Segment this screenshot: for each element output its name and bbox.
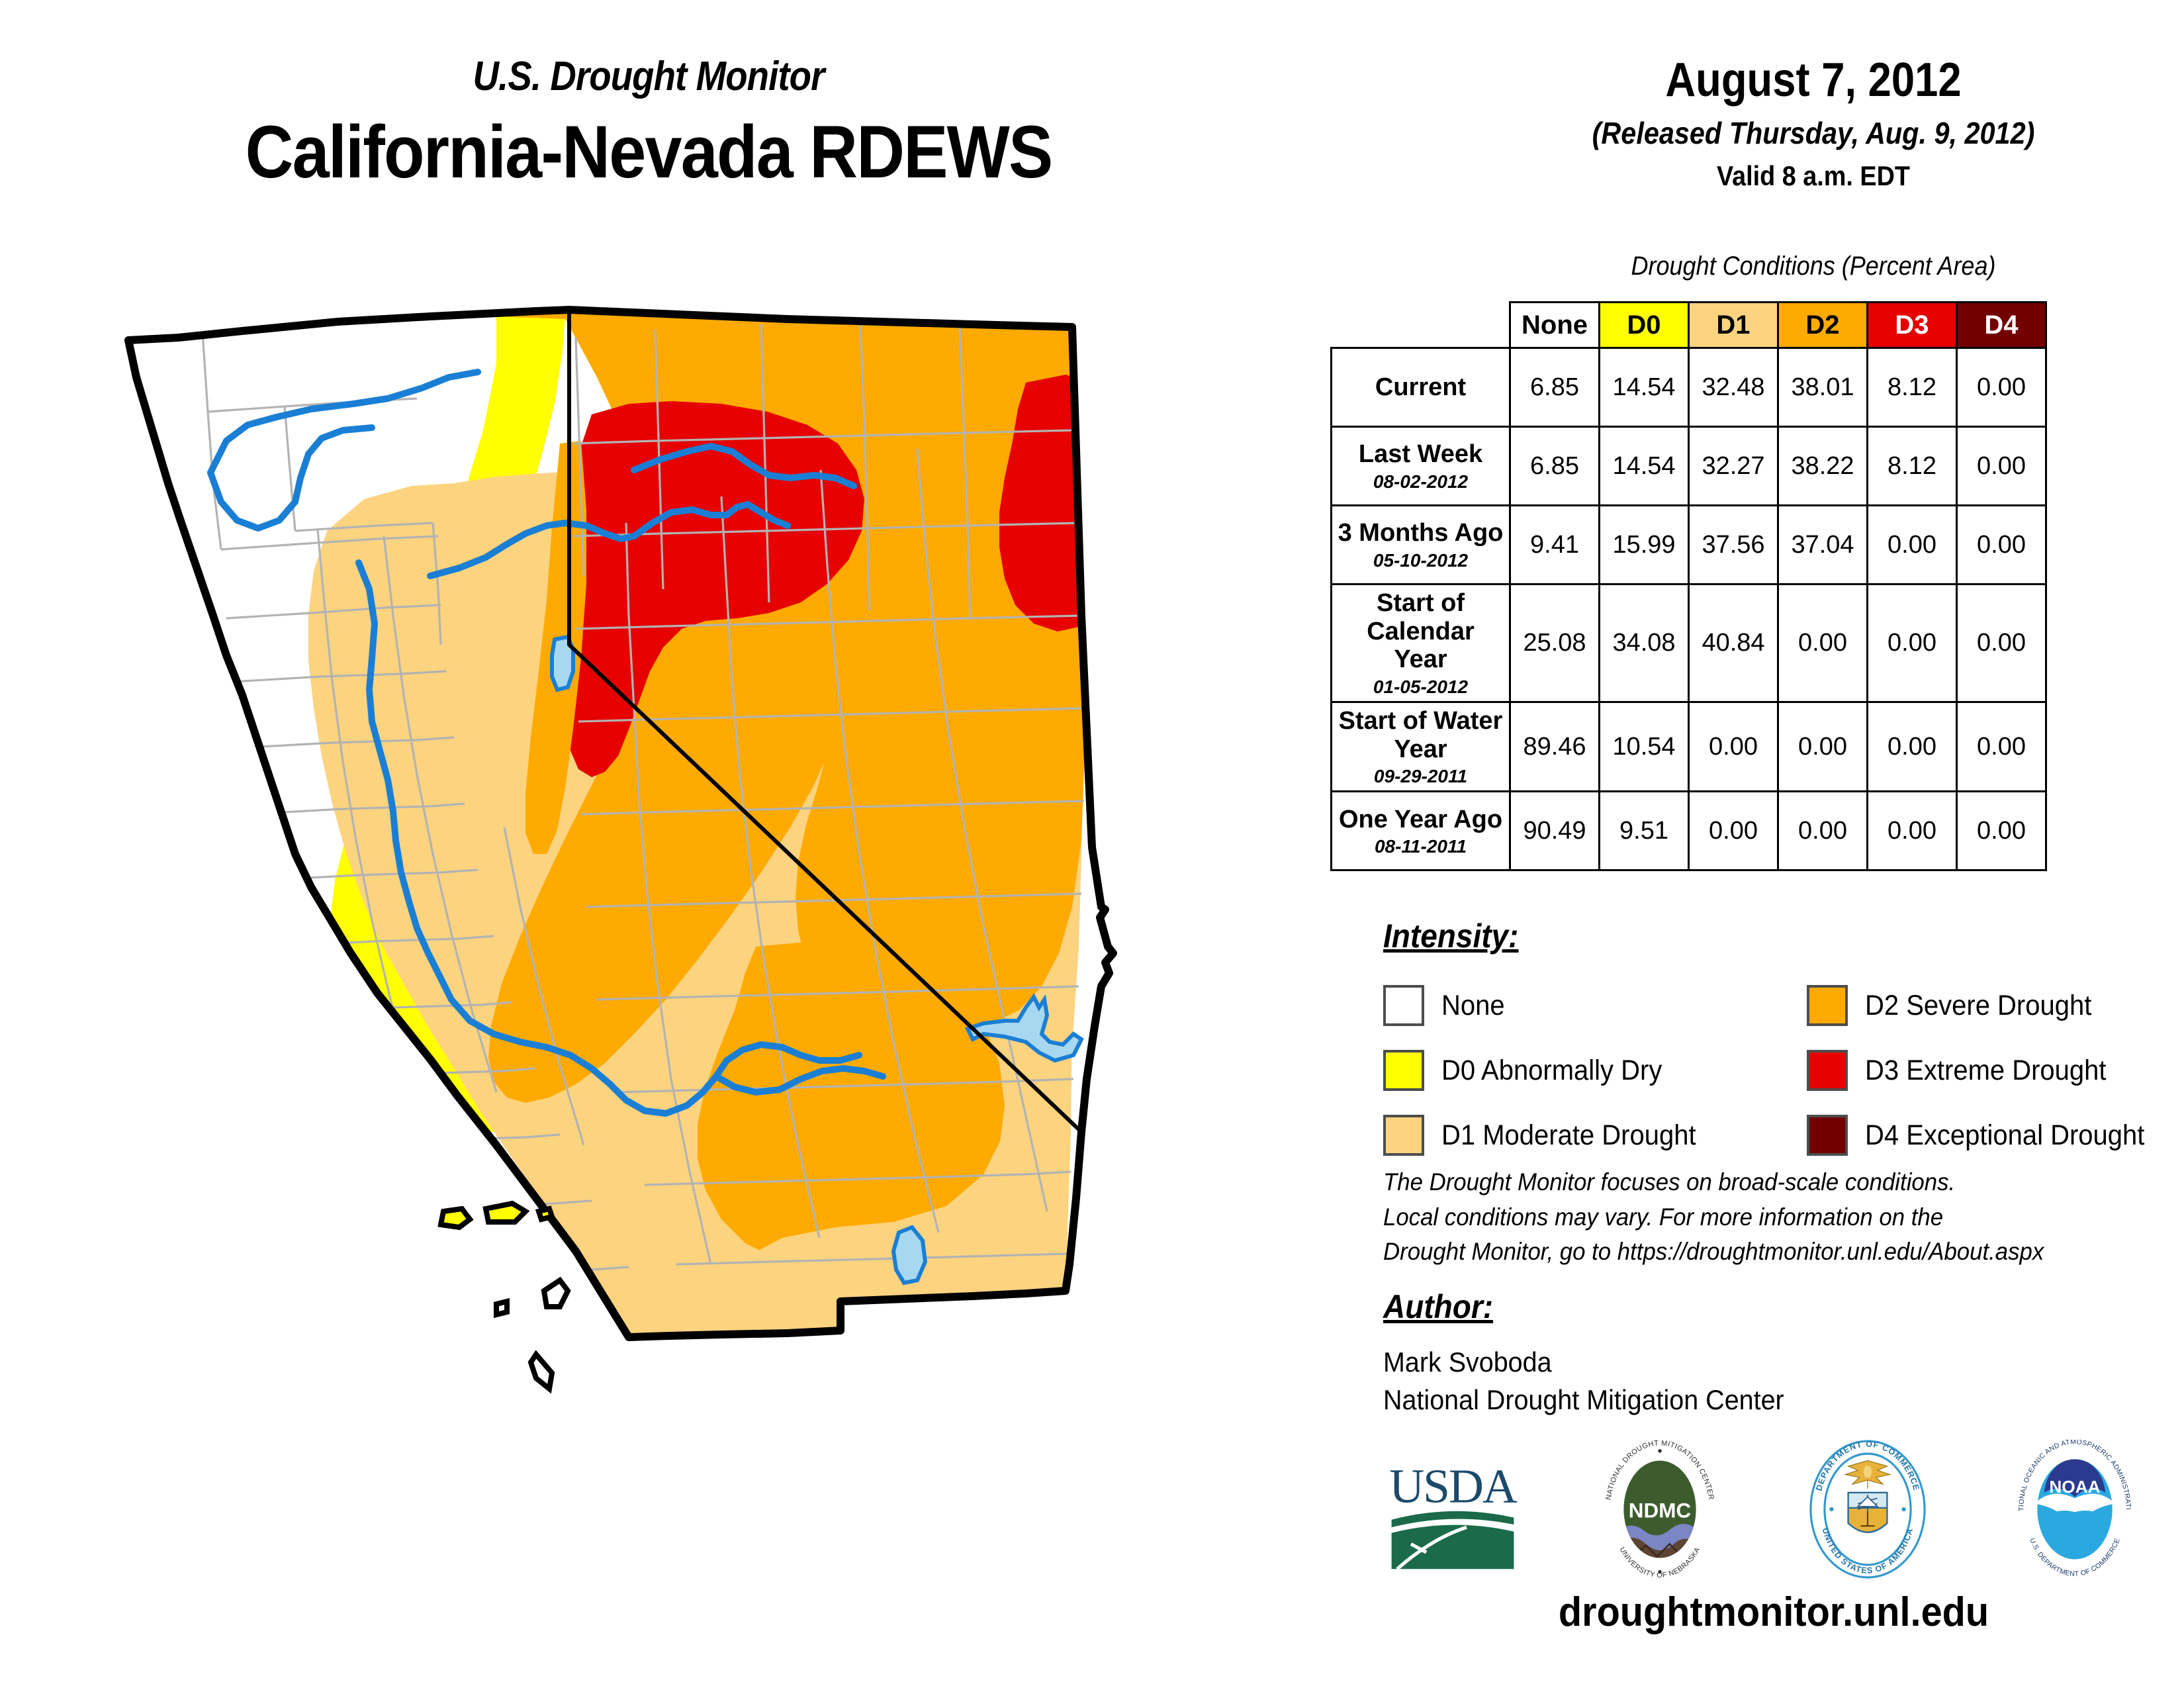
row-date: 09-29-2011 [1338, 766, 1504, 786]
legend-item: D2 Severe Drought [1807, 973, 2171, 1038]
column-header-d0: D0 [1600, 303, 1689, 348]
cell-none: 6.85 [1510, 427, 1600, 506]
legend-item: None [1383, 973, 1807, 1038]
cell-d2: 0.00 [1778, 585, 1868, 702]
disclaimer-line-3: Drought Monitor, go to https://droughtmo… [1383, 1235, 2130, 1270]
usda-logo: USDA [1383, 1440, 1522, 1579]
valid-time: Valid 8 a.m. EDT [1480, 160, 2147, 192]
svg-text:NDMC: NDMC [1629, 1499, 1691, 1523]
row-label: Last Week08-02-2012 [1332, 427, 1510, 506]
row-date: 08-02-2012 [1338, 471, 1504, 492]
cell-d0: 9.51 [1600, 792, 1689, 870]
row-label: Start of Calendar Year01-05-2012 [1332, 585, 1510, 702]
author-affiliation: National Drought Mitigation Center [1383, 1382, 1784, 1419]
cell-d3: 8.12 [1868, 427, 1957, 506]
drought-map [99, 285, 1284, 1602]
cell-d1: 0.00 [1689, 792, 1778, 870]
cell-none: 25.08 [1510, 585, 1600, 702]
cell-d1: 40.84 [1689, 585, 1778, 702]
cell-d1: 0.00 [1689, 702, 1778, 792]
footer-url: droughtmonitor.unl.edu [1410, 1589, 2136, 1636]
channel-islands [441, 1203, 552, 1227]
cell-none: 90.49 [1510, 792, 1600, 870]
row-date: 08-11-2011 [1338, 836, 1504, 857]
legend-swatch [1807, 985, 1848, 1026]
svg-text:NOAA: NOAA [2049, 1477, 2100, 1497]
disclaimer-line-2: Local conditions may vary. For more info… [1383, 1200, 2130, 1235]
row-label: 3 Months Ago05-10-2012 [1332, 506, 1510, 585]
intensity-legend: NoneD2 Severe DroughtD0 Abnormally DryD3… [1383, 973, 2171, 1168]
disclaimer-line-1: The Drought Monitor focuses on broad-sca… [1383, 1165, 2130, 1200]
cell-d4: 0.00 [1957, 506, 2046, 585]
eagle-icon [1845, 1461, 1889, 1489]
legend-label: D2 Severe Drought [1865, 990, 2091, 1022]
row-date: 05-10-2012 [1338, 550, 1504, 571]
cell-d2: 38.01 [1778, 348, 1868, 427]
cell-d1: 37.56 [1689, 506, 1778, 585]
cell-d3: 8.12 [1868, 348, 1957, 427]
salton-sea [893, 1227, 925, 1283]
row-label: Start of Water Year09-29-2011 [1332, 702, 1510, 792]
table-row: 3 Months Ago05-10-20129.4115.9937.5637.0… [1332, 506, 2046, 585]
cell-d3: 0.00 [1868, 702, 1957, 792]
release-date: (Released Thursday, Aug. 9, 2012) [1480, 115, 2147, 151]
table-corner-cell [1332, 303, 1510, 348]
cell-d1: 32.27 [1689, 427, 1778, 506]
cell-none: 89.46 [1510, 702, 1600, 792]
cell-d3: 0.00 [1868, 506, 1957, 585]
cell-d4: 0.00 [1957, 348, 2046, 427]
cell-d3: 0.00 [1868, 792, 1957, 870]
table-header-row: None D0 D1 D2 D3 D4 [1332, 303, 2046, 348]
cell-d0: 10.54 [1600, 702, 1689, 792]
table-row: One Year Ago08-11-201190.499.510.000.000… [1332, 792, 2046, 870]
date-block: August 7, 2012 (Released Thursday, Aug. … [1443, 53, 2184, 192]
row-label: Current [1332, 348, 1510, 427]
legend-swatch [1383, 1050, 1424, 1091]
cell-d0: 15.99 [1600, 506, 1689, 585]
legend-label: D3 Extreme Drought [1865, 1055, 2107, 1087]
cell-d4: 0.00 [1957, 427, 2046, 506]
author-block: Mark Svoboda National Drought Mitigation… [1383, 1344, 1784, 1419]
author-heading: Author: [1383, 1288, 1493, 1326]
page-subtitle: U.S. Drought Monitor [78, 53, 1220, 100]
doc-logo: DEPARTMENT OF COMMERCE UNITED STATES OF … [1798, 1440, 1937, 1579]
cell-d2: 38.22 [1778, 427, 1868, 506]
table-row: Current6.8514.5432.4838.018.120.00 [1332, 348, 2046, 427]
cell-d2: 0.00 [1778, 702, 1868, 792]
cell-d4: 0.00 [1957, 585, 2046, 702]
legend-label: D0 Abnormally Dry [1441, 1055, 1662, 1087]
legend-item: D1 Moderate Drought [1383, 1103, 1807, 1168]
table-row: Last Week08-02-20126.8514.5432.2738.228.… [1332, 427, 2046, 506]
legend-item: D3 Extreme Drought [1807, 1038, 2171, 1103]
table-row: Start of Water Year09-29-201189.4610.540… [1332, 702, 2046, 792]
table-row: Start of Calendar Year01-05-201225.0834.… [1332, 585, 2046, 702]
column-header-d1: D1 [1689, 303, 1778, 348]
legend-label: None [1441, 990, 1505, 1022]
cell-d3: 0.00 [1868, 585, 1957, 702]
page-title: California-Nevada RDEWS [65, 109, 1232, 195]
cell-d4: 0.00 [1957, 792, 2046, 870]
southern-islands [496, 1280, 568, 1389]
disclaimer-text: The Drought Monitor focuses on broad-sca… [1383, 1165, 2130, 1270]
cell-d2: 37.04 [1778, 506, 1868, 585]
svg-text:USDA: USDA [1389, 1460, 1518, 1513]
legend-swatch [1807, 1050, 1848, 1091]
row-label: One Year Ago08-11-2011 [1332, 792, 1510, 870]
column-header-d3: D3 [1868, 303, 1957, 348]
row-date: 01-05-2012 [1338, 677, 1504, 697]
drought-conditions-table: None D0 D1 D2 D3 D4 Current6.8514.5432.4… [1330, 301, 2047, 871]
ndmc-logo: NDMC NATIONAL DROUGHT MITIGATION CENTER … [1590, 1440, 1729, 1579]
column-header-none: None [1510, 303, 1600, 348]
noaa-logo: NOAA NATIONAL OCEANIC AND ATMOSPHERIC AD… [2005, 1440, 2144, 1579]
title-block: U.S. Drought Monitor California-Nevada R… [0, 53, 1297, 195]
author-name: Mark Svoboda [1383, 1344, 1784, 1382]
legend-label: D1 Moderate Drought [1441, 1119, 1696, 1152]
logo-row: USDA NDMC NATIONAL DROUGHT MITIGATION CE… [1383, 1433, 2144, 1585]
legend-swatch [1383, 1115, 1424, 1156]
intensity-heading: Intensity: [1383, 917, 1518, 955]
legend-swatch [1807, 1115, 1848, 1156]
cell-none: 9.41 [1510, 506, 1600, 585]
column-header-d2: D2 [1778, 303, 1868, 348]
report-date: August 7, 2012 [1487, 53, 2140, 107]
cell-d4: 0.00 [1957, 702, 2046, 792]
cell-d0: 14.54 [1600, 348, 1689, 427]
cell-d0: 14.54 [1600, 427, 1689, 506]
legend-item: D4 Exceptional Drought [1807, 1103, 2171, 1168]
legend-swatch [1383, 985, 1424, 1026]
legend-item: D0 Abnormally Dry [1383, 1038, 1807, 1103]
column-header-d4: D4 [1957, 303, 2046, 348]
cell-none: 6.85 [1510, 348, 1600, 427]
cell-d2: 0.00 [1778, 792, 1868, 870]
cell-d0: 34.08 [1600, 585, 1689, 702]
cell-d1: 32.48 [1689, 348, 1778, 427]
legend-label: D4 Exceptional Drought [1865, 1119, 2144, 1152]
table-caption: Drought Conditions (Percent Area) [1480, 252, 2147, 281]
